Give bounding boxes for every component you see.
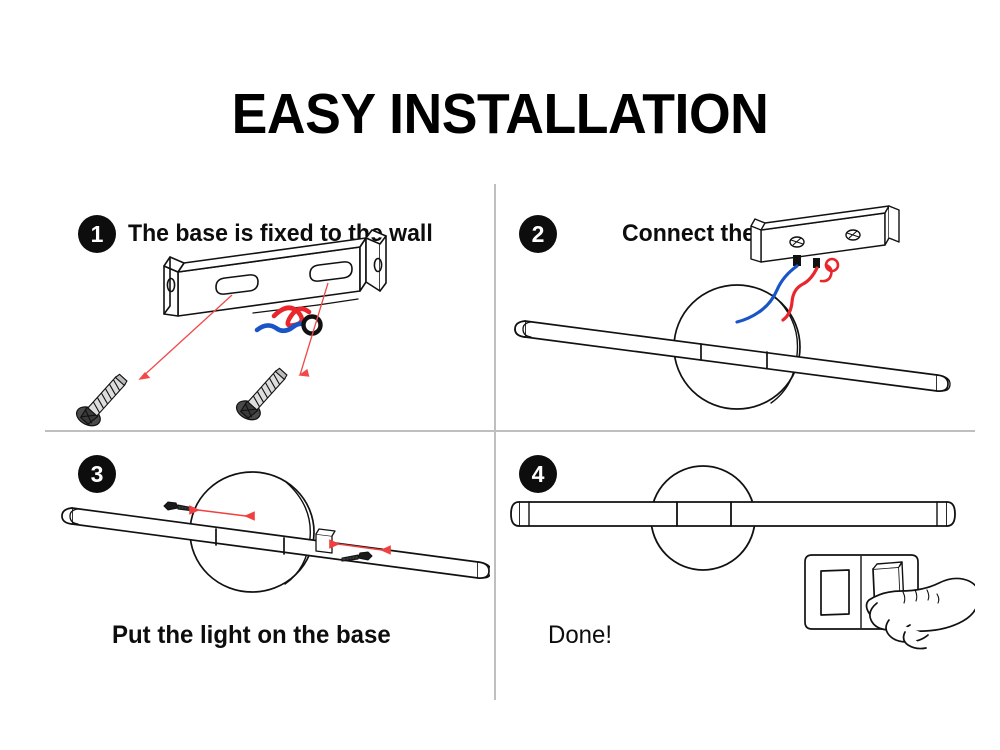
illustration-done — [505, 440, 975, 675]
step-panel-4: 4 Done! — [505, 440, 975, 690]
step-caption-3: Put the light on the base — [112, 623, 391, 648]
illustration-connect-wires — [505, 195, 975, 430]
step-panel-2: 2 Connect the wires — [505, 195, 975, 430]
illustration-wall-bracket — [60, 195, 490, 430]
step-panel-1: 1 The base is fixed to the wall — [60, 195, 490, 430]
step-panel-3: 3 Put the light on the base — [60, 440, 490, 690]
vertical-divider — [494, 184, 496, 700]
page-title: EASY INSTALLATION — [30, 86, 970, 143]
installation-infographic: EASY INSTALLATION 1 The base is fixed to… — [0, 0, 1000, 750]
illustration-mount-light — [60, 440, 490, 620]
horizontal-divider — [45, 430, 975, 432]
